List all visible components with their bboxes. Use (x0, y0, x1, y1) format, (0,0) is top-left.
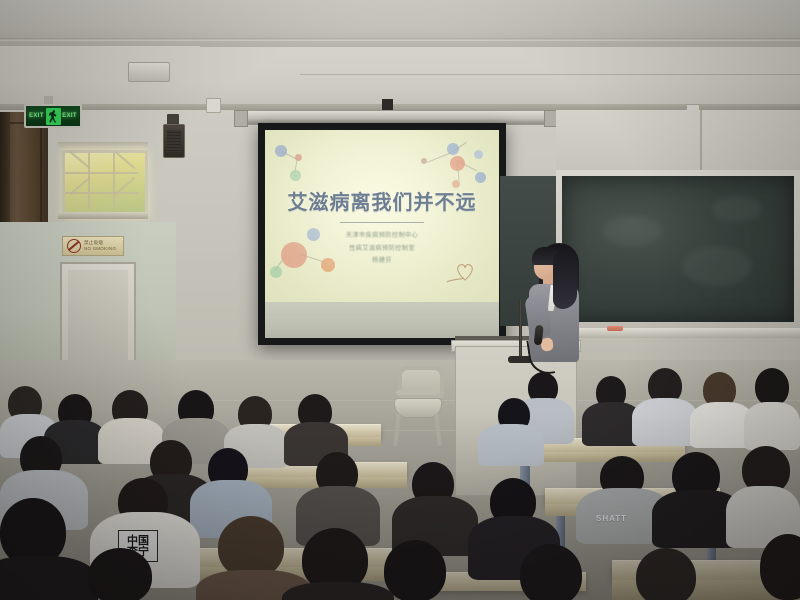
audience-head (218, 516, 284, 578)
audience-head (636, 548, 696, 600)
audience-head (88, 548, 152, 600)
screen-lower-blank (265, 302, 499, 338)
audience-body (0, 556, 98, 600)
no-smoking-text: 禁止吸烟 NO SMOKING (84, 240, 116, 252)
blackboard-upper-wall (556, 110, 800, 172)
folding-chair[interactable] (392, 366, 442, 450)
slide-title: 艾滋病离我们并不远 (265, 186, 499, 215)
wall-seam (700, 110, 702, 172)
presenter (519, 243, 587, 365)
window-header (58, 142, 148, 150)
audience-body (744, 402, 800, 450)
exit-sign-label-left: EXIT (29, 113, 44, 119)
slide-subtitle-line-2: 性病艾滋病预防控制室 (265, 243, 499, 256)
audience-body (478, 424, 544, 466)
exit-sign: EXIT EXIT (24, 104, 82, 128)
heart-ribbon-icon (445, 258, 485, 284)
blackboard (562, 176, 794, 322)
presenter-hair-side (553, 251, 577, 309)
exit-sign-label-right: EXIT (62, 113, 77, 119)
chalk-stick[interactable] (607, 326, 623, 331)
chair-rail (396, 390, 438, 395)
running-man-icon (46, 108, 61, 125)
no-smoking-plaque: 禁止吸烟 NO SMOKING (62, 236, 124, 256)
ceiling-fixture (128, 62, 170, 82)
screen-rail-cap-left (234, 110, 248, 127)
audience-head (520, 544, 582, 600)
slide-divider (340, 222, 424, 223)
wall-seam (300, 74, 800, 75)
upper-wall (0, 46, 800, 112)
classroom-photo: 禁止吸烟 NO SMOKING EXIT EXIT (0, 0, 800, 600)
chalk-tray (556, 328, 800, 338)
no-smoking-icon (67, 239, 81, 253)
molecule-decor-top-left (271, 142, 317, 186)
ceiling-seam (0, 38, 800, 41)
window-sill (58, 212, 148, 219)
wall-seam (200, 46, 800, 47)
window-lattice-icon (65, 153, 145, 215)
presentation-slide: 艾滋病离我们并不远 天津市疾病预防控制中心 性病艾滋病预防控制室 杨建芬 (265, 130, 499, 302)
audience-head (755, 368, 789, 406)
audience-body (282, 582, 394, 600)
no-smoking-line2: NO SMOKING (84, 246, 116, 252)
audience-body (632, 398, 698, 446)
audience-head (384, 540, 446, 600)
hoodie-print-text: SHATT (596, 514, 627, 523)
wall-speaker (163, 124, 185, 158)
slide-subtitle-line-1: 天津市疾病预防控制中心 (265, 230, 499, 243)
inner-door-panel[interactable] (60, 262, 136, 374)
latticed-window (62, 150, 148, 218)
wall-outlet[interactable] (206, 98, 221, 113)
projection-screen: 艾滋病离我们并不远 天津市疾病预防控制中心 性病艾滋病预防控制室 杨建芬 (265, 130, 499, 338)
